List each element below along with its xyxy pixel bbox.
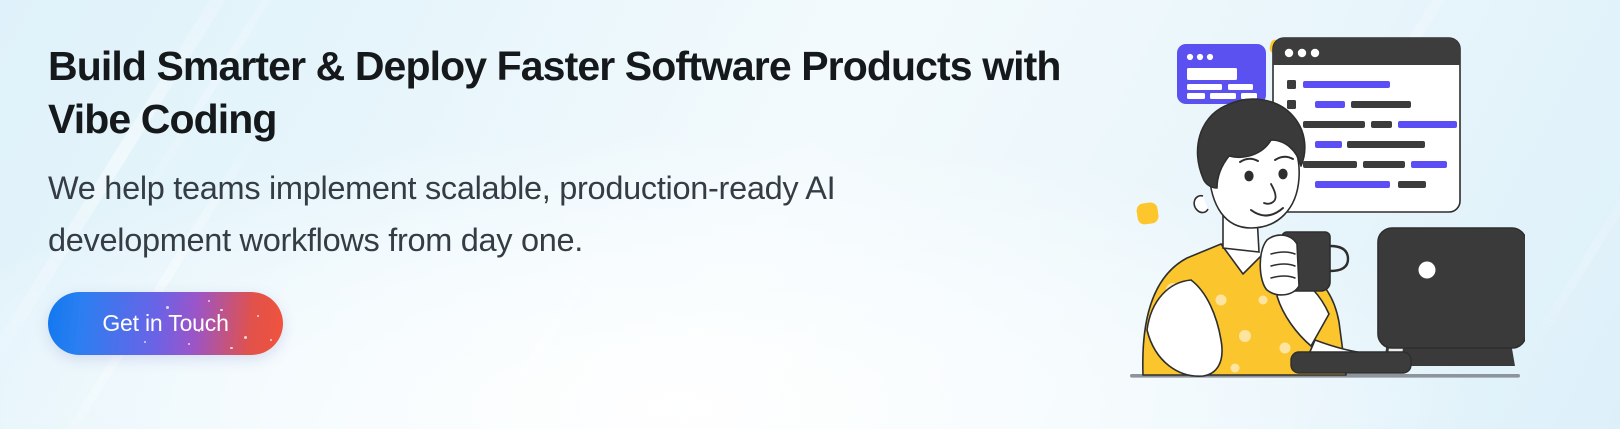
cta-container: Get in Touch	[48, 292, 1138, 355]
page-title: Build Smarter & Deploy Faster Software P…	[48, 40, 1138, 146]
headline-line-2: Vibe Coding	[48, 96, 277, 142]
keyboard	[1291, 352, 1411, 373]
headline-line-1: Build Smarter & Deploy Faster Software P…	[48, 43, 1061, 89]
get-in-touch-button-label: Get in Touch	[102, 310, 228, 337]
purple-mini-window	[1177, 44, 1266, 104]
code-window	[1273, 38, 1460, 212]
get-in-touch-button[interactable]: Get in Touch	[48, 292, 283, 355]
subheadline-line-2: development workflows from day one.	[48, 222, 583, 258]
hero-illustration	[1125, 0, 1525, 429]
page-subtitle: We help teams implement scalable, produc…	[48, 162, 1138, 266]
hero-banner: Build Smarter & Deploy Faster Software P…	[0, 0, 1620, 429]
hero-content: Build Smarter & Deploy Faster Software P…	[48, 40, 1138, 355]
subheadline-line-1: We help teams implement scalable, produc…	[48, 170, 835, 206]
desktop-monitor	[1378, 228, 1525, 366]
